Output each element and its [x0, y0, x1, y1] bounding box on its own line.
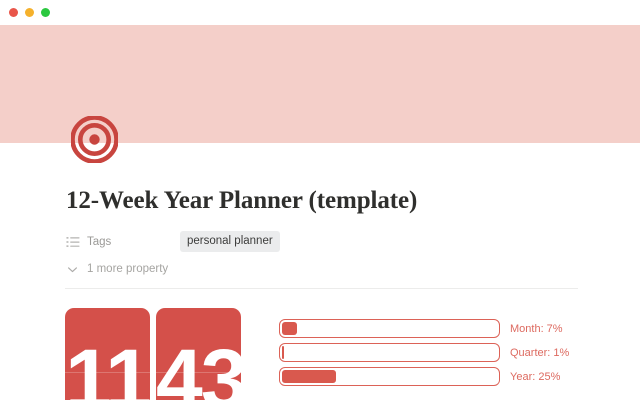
window-controls [9, 8, 50, 17]
multi-select-icon [66, 235, 80, 249]
more-properties-toggle[interactable]: 1 more property [66, 259, 168, 279]
minimize-window-button[interactable] [25, 8, 34, 17]
window-titlebar [0, 0, 640, 25]
progress-track-month[interactable] [279, 319, 500, 338]
progress-track-quarter[interactable] [279, 343, 500, 362]
countdown-cards: 11 43 [65, 308, 241, 400]
countdown-value-days: 43 [156, 337, 241, 400]
countdown-card-days: 43 [156, 308, 241, 400]
countdown-card-weeks: 11 [65, 308, 150, 400]
more-properties-label: 1 more property [87, 263, 168, 275]
bullseye-target-icon[interactable] [71, 116, 118, 163]
page-title[interactable]: 12-Week Year Planner (template) [66, 186, 417, 216]
countdown-value-weeks: 11 [65, 337, 150, 400]
maximize-window-button[interactable] [41, 8, 50, 17]
card-split-line [156, 372, 241, 373]
progress-label-quarter: Quarter: 1% [510, 347, 569, 359]
card-split-line [65, 372, 150, 373]
progress-label-month: Month: 7% [510, 323, 563, 335]
content-divider [65, 288, 578, 289]
progress-label-year: Year: 25% [510, 371, 560, 383]
progress-fill-year [282, 370, 336, 383]
progress-fill-quarter [282, 346, 284, 359]
tag-pill-personal-planner[interactable]: personal planner [180, 231, 280, 252]
close-window-button[interactable] [9, 8, 18, 17]
chevron-down-icon [66, 263, 79, 276]
tag-value-container[interactable]: personal planner [180, 232, 280, 251]
progress-row-month: Month: 7% [279, 319, 579, 338]
progress-bar-list: Month: 7% Quarter: 1% Year: 25% [279, 319, 579, 391]
progress-row-year: Year: 25% [279, 367, 579, 386]
progress-fill-month [282, 322, 297, 335]
progress-row-quarter: Quarter: 1% [279, 343, 579, 362]
property-label-tags: Tags [87, 236, 111, 248]
progress-track-year[interactable] [279, 367, 500, 386]
property-row-tags[interactable]: Tags [66, 232, 111, 252]
app-window: 12-Week Year Planner (template) Tags per… [0, 0, 640, 400]
